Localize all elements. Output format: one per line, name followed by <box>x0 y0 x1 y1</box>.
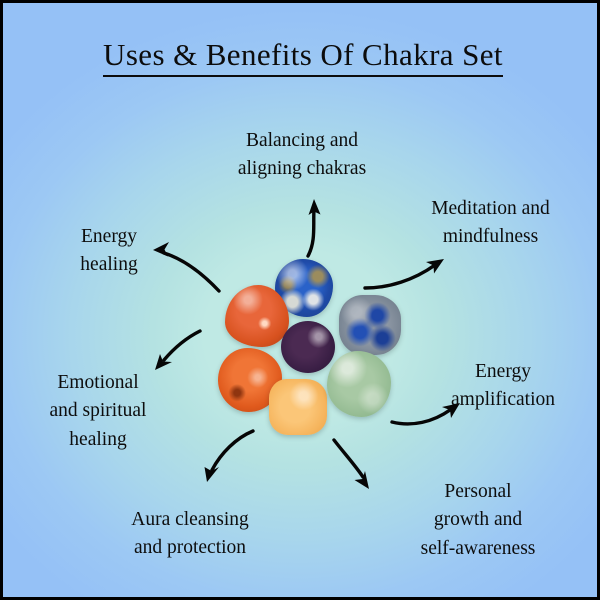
orange-calcite-stone <box>269 379 327 435</box>
sodalite-stone <box>339 295 401 355</box>
benefit-label-energy-healing: Energy healing <box>33 223 185 280</box>
benefit-label-emotional: Emotional and spiritual healing <box>13 369 183 454</box>
chakra-stone-cluster <box>203 251 413 446</box>
page-title-container: Uses & Benefits Of Chakra Set <box>3 37 600 77</box>
carnelian-stone-upper <box>225 285 289 347</box>
benefit-label-energy-amplification: Energy amplification <box>413 358 593 415</box>
arrow-down-left-icon <box>155 331 200 370</box>
arrow-up-icon <box>308 199 321 256</box>
chakra-set-infographic: Uses & Benefits Of Chakra Set <box>0 0 600 600</box>
benefit-label-balancing: Balancing and aligning chakras <box>198 127 406 184</box>
benefit-label-personal-growth: Personal growth and self-awareness <box>388 478 568 563</box>
amethyst-stone <box>281 321 335 373</box>
benefit-label-aura-cleansing: Aura cleansing and protection <box>95 506 285 563</box>
page-title: Uses & Benefits Of Chakra Set <box>103 37 503 77</box>
benefit-label-meditation: Meditation and mindfulness <box>393 195 588 252</box>
green-aventurine-stone <box>327 351 391 417</box>
arrow-down-right-icon <box>334 440 369 489</box>
